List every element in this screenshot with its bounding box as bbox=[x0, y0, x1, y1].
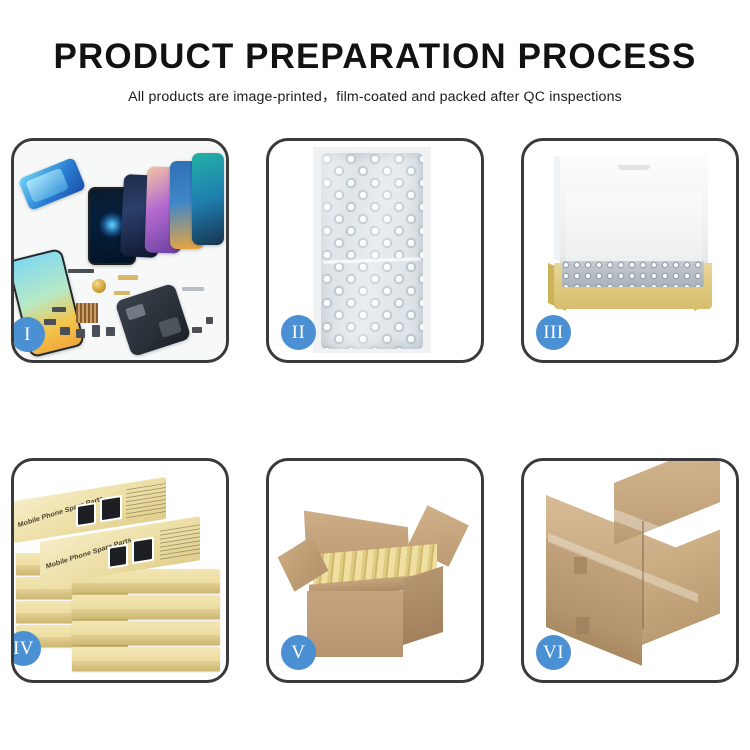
step-numeral-6: VI bbox=[543, 642, 564, 663]
chip-grid-icon bbox=[76, 303, 98, 323]
process-step-panel-4: Mobile Phone Spare Parts Mobile Phone Sp… bbox=[11, 458, 229, 683]
small-part-4-icon bbox=[106, 327, 115, 336]
process-step-panel-1: I bbox=[11, 138, 229, 363]
step-numeral-1: I bbox=[24, 324, 31, 345]
step-badge-1: I bbox=[11, 317, 45, 352]
step-badge-5: V bbox=[281, 635, 316, 670]
small-part-5-icon bbox=[52, 307, 66, 312]
small-part-2-icon bbox=[76, 329, 85, 338]
box-window-left bbox=[76, 502, 96, 527]
box-window-right bbox=[132, 537, 154, 564]
lid-notch-icon bbox=[618, 165, 650, 170]
process-steps-grid: I II bbox=[11, 138, 739, 683]
process-step-panel-6: VI bbox=[521, 458, 739, 683]
step-4-image: Mobile Phone Spare Parts Mobile Phone Sp… bbox=[14, 461, 226, 680]
page-title: PRODUCT PREPARATION PROCESS bbox=[0, 0, 750, 77]
plastic-sheen bbox=[321, 153, 423, 349]
flex-cable-2-icon bbox=[114, 291, 130, 295]
bubble-wrapped-contents bbox=[562, 261, 704, 287]
screw-icon bbox=[206, 317, 213, 324]
process-step-panel-5: V bbox=[266, 458, 484, 683]
step-numeral-4: IV bbox=[13, 638, 34, 659]
step-1-image bbox=[14, 141, 226, 360]
box-spec-lines bbox=[126, 482, 166, 519]
step-badge-6: VI bbox=[536, 635, 571, 670]
step-numeral-5: V bbox=[291, 642, 305, 663]
step-badge-2: II bbox=[281, 315, 316, 350]
tweezers-icon bbox=[182, 287, 204, 291]
retail-box bbox=[72, 647, 220, 671]
flex-cable-icon bbox=[118, 275, 138, 280]
retail-box bbox=[72, 595, 220, 619]
process-step-panel-3: III bbox=[521, 138, 739, 363]
box-window-left bbox=[108, 544, 128, 569]
white-foam-liner bbox=[566, 193, 702, 265]
carton-hand-hole-2-icon bbox=[576, 617, 589, 634]
carton-hand-hole-icon bbox=[574, 557, 587, 574]
vibration-motor-icon bbox=[92, 279, 106, 293]
step-numeral-3: III bbox=[543, 322, 563, 343]
screw-set-icon bbox=[192, 327, 202, 333]
small-part-icon bbox=[60, 327, 70, 335]
bubble-wrapped-phone-screen bbox=[321, 153, 423, 349]
small-part-3-icon bbox=[92, 325, 100, 337]
step-badge-3: III bbox=[536, 315, 571, 350]
small-part-6-icon bbox=[44, 319, 56, 325]
box-window-right bbox=[100, 495, 122, 522]
phone-display-teal-icon bbox=[192, 153, 224, 245]
page-subtitle: All products are image-printed，film-coat… bbox=[0, 77, 750, 106]
antenna-strip-icon bbox=[68, 269, 94, 273]
retail-box-stack: Mobile Phone Spare Parts Mobile Phone Sp… bbox=[14, 461, 226, 680]
box-spec-lines bbox=[160, 523, 200, 560]
retail-box bbox=[72, 621, 220, 645]
carton-front-face bbox=[307, 591, 403, 657]
step-numeral-2: II bbox=[292, 322, 306, 343]
process-step-panel-2: II bbox=[266, 138, 484, 363]
bubble-pattern-icon bbox=[562, 261, 704, 287]
header: PRODUCT PREPARATION PROCESS All products… bbox=[0, 0, 750, 106]
carton-right-face bbox=[403, 566, 443, 645]
carton-vertical-edge bbox=[642, 521, 644, 629]
